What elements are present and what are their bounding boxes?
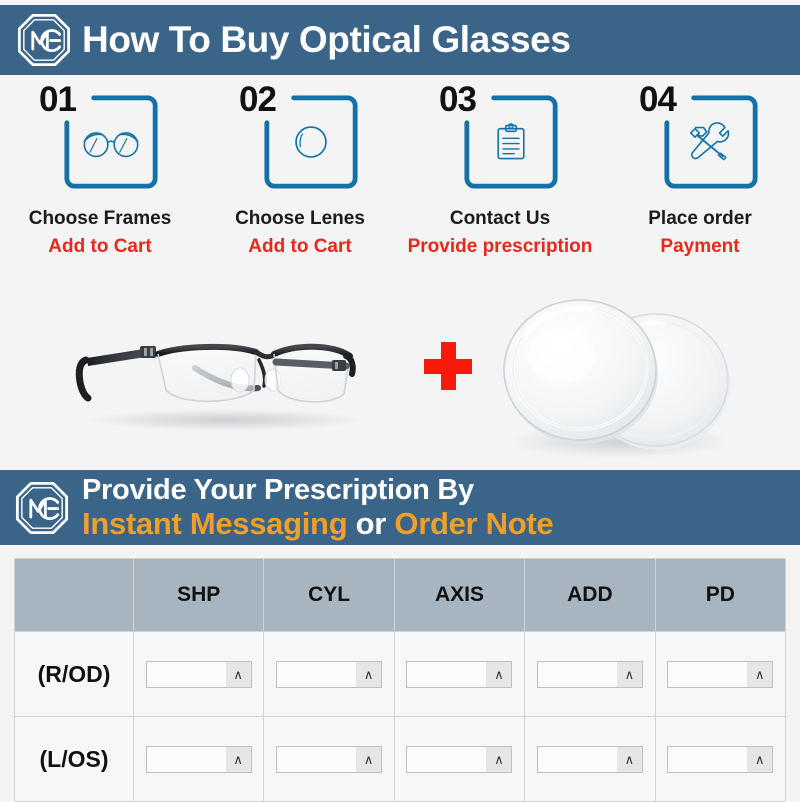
cell-right-shp: ∧ bbox=[134, 632, 264, 717]
step-number-01: 01 bbox=[39, 80, 76, 120]
step-label-02: Choose Lenes bbox=[235, 208, 365, 230]
product-showcase-row bbox=[0, 288, 800, 463]
hammer-wrench-icon bbox=[679, 112, 743, 172]
step-icon-area-02: 02 bbox=[235, 82, 365, 194]
cell-left-shp: ∧ bbox=[134, 717, 264, 802]
step-icon-area-03: 03 bbox=[435, 82, 565, 194]
step-number-04: 04 bbox=[639, 80, 676, 120]
table-header-add: ADD bbox=[525, 559, 655, 632]
chevron-up-icon[interactable]: ∧ bbox=[747, 662, 772, 687]
step-sublabel-02: Add to Cart bbox=[248, 236, 351, 258]
connector-text: or bbox=[347, 506, 394, 541]
page-title: How To Buy Optical Glasses bbox=[82, 19, 571, 61]
chevron-up-icon[interactable]: ∧ bbox=[356, 662, 381, 687]
table-header-blank bbox=[15, 559, 134, 632]
cell-right-axis: ∧ bbox=[394, 632, 524, 717]
prescription-banner-text: Provide Your Prescription By Instant Mes… bbox=[82, 476, 553, 539]
cell-left-pd: ∧ bbox=[655, 717, 785, 802]
lens-circle-icon bbox=[279, 112, 343, 172]
clipboard-icon bbox=[479, 112, 543, 172]
prescription-banner-line1: Provide Your Prescription By bbox=[82, 476, 553, 505]
select-left-cyl[interactable]: ∧ bbox=[276, 746, 382, 773]
row-label-left-eye: (L/OS) bbox=[15, 717, 134, 802]
select-right-axis[interactable]: ∧ bbox=[406, 661, 512, 688]
step-sublabel-04: Payment bbox=[660, 236, 739, 258]
table-row: (R/OD) ∧ ∧ ∧ bbox=[15, 632, 786, 717]
select-left-pd[interactable]: ∧ bbox=[667, 746, 773, 773]
chevron-up-icon[interactable]: ∧ bbox=[226, 662, 251, 687]
page-root: How To Buy Optical Glasses 01 bbox=[0, 0, 800, 800]
cell-right-cyl: ∧ bbox=[264, 632, 394, 717]
table-header-pd: PD bbox=[655, 559, 785, 632]
select-right-add[interactable]: ∧ bbox=[537, 661, 643, 688]
step-item-03: 03 Contact Us Provide prescription bbox=[400, 82, 600, 282]
chevron-up-icon[interactable]: ∧ bbox=[747, 747, 772, 772]
step-number-02: 02 bbox=[239, 80, 276, 120]
step-label-03: Contact Us bbox=[450, 208, 550, 230]
eyeglasses-frame-photo bbox=[40, 308, 400, 443]
chevron-up-icon[interactable]: ∧ bbox=[486, 747, 511, 772]
step-icon-area-01: 01 bbox=[35, 82, 165, 194]
eyeglasses-icon bbox=[79, 112, 143, 172]
header-banner: How To Buy Optical Glasses bbox=[0, 5, 800, 75]
chevron-up-icon[interactable]: ∧ bbox=[356, 747, 381, 772]
chevron-up-icon[interactable]: ∧ bbox=[617, 747, 642, 772]
step-sublabel-01: Add to Cart bbox=[48, 236, 151, 258]
step-item-01: 01 Choose Frames Add to Cart bbox=[0, 82, 200, 282]
cell-left-axis: ∧ bbox=[394, 717, 524, 802]
table-row: (L/OS) ∧ ∧ ∧ bbox=[15, 717, 786, 802]
step-item-04: 04 Place order Payment bbox=[600, 82, 800, 282]
table-header-shp: SHP bbox=[134, 559, 264, 632]
chevron-up-icon[interactable]: ∧ bbox=[617, 662, 642, 687]
select-left-axis[interactable]: ∧ bbox=[406, 746, 512, 773]
select-right-pd[interactable]: ∧ bbox=[667, 661, 773, 688]
step-label-04: Place order bbox=[648, 208, 752, 230]
instant-messaging-text: Instant Messaging bbox=[82, 506, 347, 541]
row-label-right-eye: (R/OD) bbox=[15, 632, 134, 717]
cell-right-pd: ∧ bbox=[655, 632, 785, 717]
order-note-text: Order Note bbox=[394, 506, 553, 541]
me-octagon-logo-icon bbox=[14, 479, 70, 537]
chevron-up-icon[interactable]: ∧ bbox=[226, 747, 251, 772]
cell-left-cyl: ∧ bbox=[264, 717, 394, 802]
prescription-banner: Provide Your Prescription By Instant Mes… bbox=[0, 470, 800, 545]
select-left-add[interactable]: ∧ bbox=[537, 746, 643, 773]
optical-lenses-photo bbox=[490, 296, 760, 461]
step-number-03: 03 bbox=[439, 80, 476, 120]
step-label-01: Choose Frames bbox=[29, 208, 172, 230]
select-right-cyl[interactable]: ∧ bbox=[276, 661, 382, 688]
step-icon-area-04: 04 bbox=[635, 82, 765, 194]
prescription-banner-line2: Instant Messaging or Order Note bbox=[82, 508, 553, 539]
table-header-cyl: CYL bbox=[264, 559, 394, 632]
chevron-up-icon[interactable]: ∧ bbox=[486, 662, 511, 687]
table-header-axis: AXIS bbox=[394, 559, 524, 632]
step-sublabel-03: Provide prescription bbox=[408, 236, 593, 258]
cell-left-add: ∧ bbox=[525, 717, 655, 802]
me-octagon-logo-icon bbox=[16, 12, 72, 68]
cell-right-add: ∧ bbox=[525, 632, 655, 717]
table-header-row: SHP CYL AXIS ADD PD bbox=[15, 559, 786, 632]
select-left-shp[interactable]: ∧ bbox=[146, 746, 252, 773]
select-right-shp[interactable]: ∧ bbox=[146, 661, 252, 688]
steps-row: 01 Choose Frames Add to Cart bbox=[0, 82, 800, 282]
prescription-table: SHP CYL AXIS ADD PD (R/OD) ∧ ∧ bbox=[14, 558, 786, 802]
plus-icon bbox=[424, 342, 472, 390]
step-item-02: 02 Choose Lenes Add to Cart bbox=[200, 82, 400, 282]
